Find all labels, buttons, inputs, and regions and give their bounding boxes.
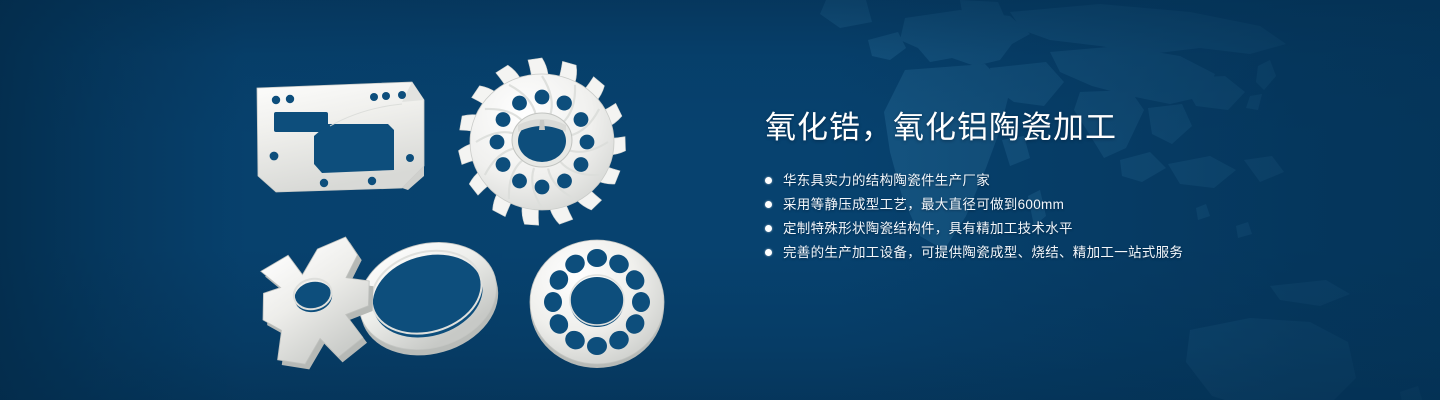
list-item: 定制特殊形状陶瓷结构件，具有精加工技术水平 xyxy=(765,217,1365,240)
bullet-dot-icon xyxy=(765,249,772,256)
banner-text-block: 氧化锆，氧化铝陶瓷加工 华东具实力的结构陶瓷件生产厂家 采用等静压成型工艺，最大… xyxy=(765,108,1365,265)
bullet-dot-icon xyxy=(765,201,772,208)
product-ceramic-perforated-disc xyxy=(512,228,682,378)
list-item-label: 华东具实力的结构陶瓷件生产厂家 xyxy=(783,169,990,192)
product-ceramic-cross-plate xyxy=(255,235,415,370)
list-item: 华东具实力的结构陶瓷件生产厂家 xyxy=(765,169,1365,192)
list-item: 采用等静压成型工艺，最大直径可做到600mm xyxy=(765,193,1365,216)
product-photo-cluster xyxy=(0,0,760,400)
product-ceramic-plate xyxy=(252,78,432,198)
feature-list: 华东具实力的结构陶瓷件生产厂家 采用等静压成型工艺，最大直径可做到600mm 定… xyxy=(765,169,1365,264)
list-item-label: 定制特殊形状陶瓷结构件，具有精加工技术水平 xyxy=(783,217,1073,240)
bullet-dot-icon xyxy=(765,225,772,232)
list-item: 完善的生产加工设备，可提供陶瓷成型、烧结、精加工一站式服务 xyxy=(765,241,1365,264)
promo-banner: 氧化锆，氧化铝陶瓷加工 华东具实力的结构陶瓷件生产厂家 采用等静压成型工艺，最大… xyxy=(0,0,1440,400)
list-item-label: 采用等静压成型工艺，最大直径可做到600mm xyxy=(783,193,1064,216)
product-ceramic-impeller xyxy=(452,50,632,230)
list-item-label: 完善的生产加工设备，可提供陶瓷成型、烧结、精加工一站式服务 xyxy=(783,241,1183,264)
bullet-dot-icon xyxy=(765,177,772,184)
page-title: 氧化锆，氧化铝陶瓷加工 xyxy=(765,108,1365,148)
